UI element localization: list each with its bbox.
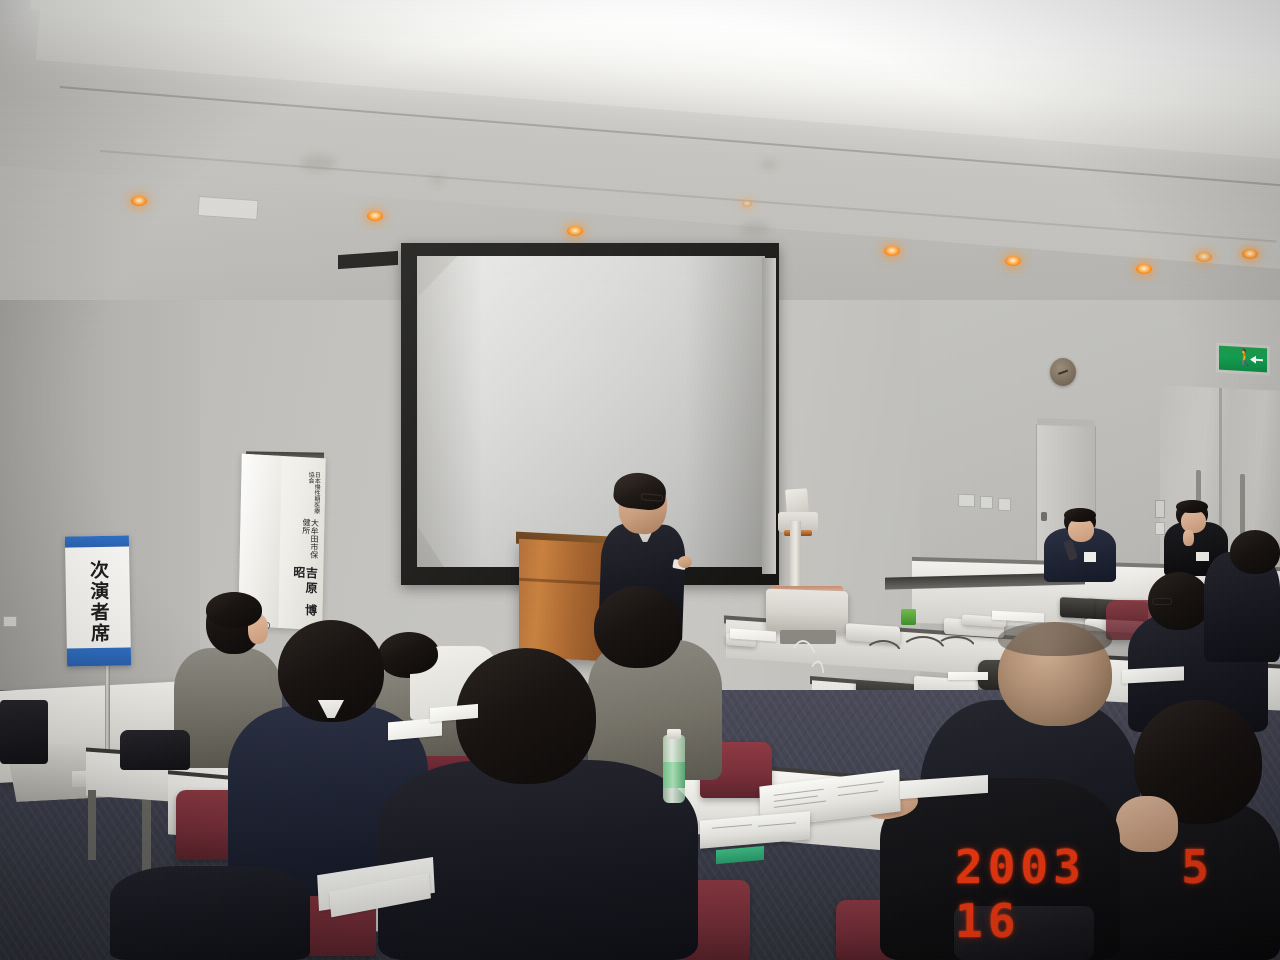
next-speaker-sign-text: 次演者席 <box>65 551 131 652</box>
name-badge <box>1084 552 1096 562</box>
podium <box>519 539 605 662</box>
downlight-icon <box>1196 252 1212 262</box>
hand <box>1183 530 1194 546</box>
wall-clock-icon <box>1050 358 1076 386</box>
name-badge <box>1196 552 1209 561</box>
exit-sign: 🚶 <box>1216 342 1270 375</box>
light-switch[interactable] <box>1155 500 1165 518</box>
bag <box>120 730 190 770</box>
screen-surface <box>417 256 765 567</box>
wall-outlet-plate <box>998 498 1011 511</box>
wall-outlet-plate <box>958 494 975 508</box>
wall-outlet-plate <box>980 496 993 509</box>
conference-room-photo: 🚶 <box>0 0 1280 960</box>
date-day: 16 <box>955 894 1020 948</box>
downlight-icon <box>131 196 147 206</box>
overhead-projector <box>766 589 848 634</box>
paper-stack <box>948 672 988 680</box>
screen-post <box>762 258 776 574</box>
downlight-icon <box>367 211 383 221</box>
camera-date-stamp: 2003 5 16 <box>955 840 1280 948</box>
downlight-icon <box>567 226 583 236</box>
arrow-right-icon <box>1251 358 1263 361</box>
wall-sensor <box>1155 522 1165 535</box>
date-month: 5 <box>1181 840 1214 894</box>
banner-affiliation: 大牟田市保健所 <box>292 517 318 563</box>
ceiling-panel <box>197 196 258 220</box>
banner-affiliation-small: 日本慢性期医療協会 <box>293 471 319 515</box>
banner-speaker-name: 吉原 博昭 <box>291 566 317 620</box>
date-year: 2003 <box>955 840 1086 894</box>
door-knob-icon[interactable] <box>1041 512 1047 521</box>
downlight-icon <box>884 246 900 256</box>
projection-screen <box>401 243 779 585</box>
green-cup <box>901 609 916 625</box>
next-speaker-sign: 次演者席 <box>65 535 131 666</box>
downlight-icon <box>1242 249 1258 259</box>
downlight-icon <box>1005 256 1021 266</box>
downlight-icon <box>742 200 752 207</box>
wall-outlet-plate <box>3 616 17 627</box>
bag <box>0 700 48 764</box>
av-projector-unit <box>1060 597 1094 619</box>
downlight-icon <box>1136 264 1152 274</box>
glasses-icon <box>1152 598 1172 605</box>
ohp-arm <box>790 521 801 595</box>
